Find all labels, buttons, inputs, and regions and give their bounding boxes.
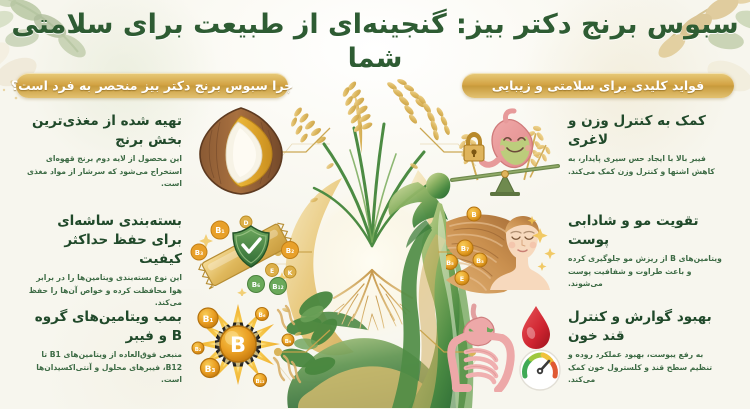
right-benefit-3: بهبود گوارش و کنترل قند خون به رفع یبوست…	[446, 300, 746, 395]
left-feature-3-body: منبعی فوق‌العاده از ویتامین‌های B1 تا B1…	[26, 349, 182, 386]
digestive-blood-sugar-icon	[446, 300, 564, 392]
right-benefit-1: کمک به کنترل وزن و لاغری فیبر بالا با ای…	[446, 104, 746, 199]
vitamin-b-burst-icon: B B₁ B₃ B₂ B₆	[186, 300, 304, 392]
right-benefit-3-heading: بهبود گوارش و کنترل قند خون	[568, 308, 724, 346]
svg-text:B₁₂: B₁₂	[255, 379, 265, 385]
hair-skin-woman-icon: B B₇ B₅ B₃ E	[446, 204, 564, 296]
svg-text:B₂: B₂	[286, 247, 294, 255]
left-feature-3: B B₁ B₃ B₂ B₆	[4, 300, 304, 395]
svg-text:B₆: B₆	[252, 281, 260, 289]
left-feature-1-body: این محصول از لایه دوم برنج قهوه‌ای استخر…	[26, 153, 182, 190]
svg-text:K: K	[288, 270, 293, 277]
svg-text:B₁: B₁	[215, 226, 225, 235]
svg-text:B₅: B₅	[446, 259, 454, 267]
right-benefit-2: B B₇ B₅ B₃ E	[446, 204, 746, 299]
infographic-canvas: سبوس برنج دکتر بیز: گنجینه‌ای از طبیعت ب…	[0, 0, 750, 409]
svg-text:D: D	[244, 220, 249, 227]
svg-text:B₁: B₁	[203, 315, 214, 325]
left-feature-2-heading: بسته‌بندی ساشه‌ای برای حفظ حداکثر کیفیت	[26, 212, 182, 269]
svg-text:E: E	[460, 275, 464, 283]
right-benefit-2-body: ویتامین‌های B از ریزش مو جلوگیری کرده و …	[568, 253, 724, 290]
right-benefit-1-heading: کمک به کنترل وزن و لاغری	[568, 112, 724, 150]
stomach-balance-scale-icon	[446, 104, 564, 196]
svg-text:B₂: B₂	[195, 347, 202, 353]
svg-text:B: B	[230, 333, 246, 357]
right-benefit-2-heading: تقویت مو و شادابی پوست	[568, 212, 724, 250]
svg-text:E: E	[270, 268, 274, 275]
rice-grain-cross-section-icon	[186, 104, 304, 196]
svg-text:B: B	[471, 211, 476, 219]
left-feature-1-heading: تهیه شده از مغذی‌ترین بخش برنج	[26, 112, 182, 150]
right-benefit-1-body: فیبر بالا با ایجاد حس سیری پایدار، به کا…	[568, 153, 724, 178]
left-feature-1: تهیه شده از مغذی‌ترین بخش برنج این محصول…	[4, 104, 304, 199]
right-benefit-3-body: به رفع یبوست، بهبود عملکرد روده و تنظیم …	[568, 349, 724, 386]
left-column: تهیه شده از مغذی‌ترین بخش برنج این محصول…	[4, 104, 304, 404]
left-feature-3-heading: بمب ویتامین‌های گروه B و فیبر	[26, 308, 182, 346]
section-banner-why-unique: چرا سبوس برنج دکتر بیز منحصر به فرد است؟	[16, 73, 288, 98]
svg-text:B₁₂: B₁₂	[272, 283, 283, 291]
svg-text:B₉: B₉	[285, 339, 292, 345]
right-column: کمک به کنترل وزن و لاغری فیبر بالا با ای…	[446, 104, 746, 404]
section-banner-key-benefits: فواید کلیدی برای سلامتی و زیبایی	[462, 73, 734, 98]
svg-text:B₃: B₃	[205, 365, 216, 375]
svg-text:B₇: B₇	[461, 245, 469, 253]
page-title: سبوس برنج دکتر بیز: گنجینه‌ای از طبیعت ب…	[0, 8, 750, 76]
sachet-shield-vitamins-icon: B₁ B₃ D B₂ E K	[186, 204, 304, 296]
svg-text:B₃: B₃	[476, 257, 484, 265]
left-feature-2: B₁ B₃ D B₂ E K	[4, 204, 304, 299]
svg-text:B₃: B₃	[195, 249, 203, 257]
svg-text:B₆: B₆	[258, 312, 266, 319]
